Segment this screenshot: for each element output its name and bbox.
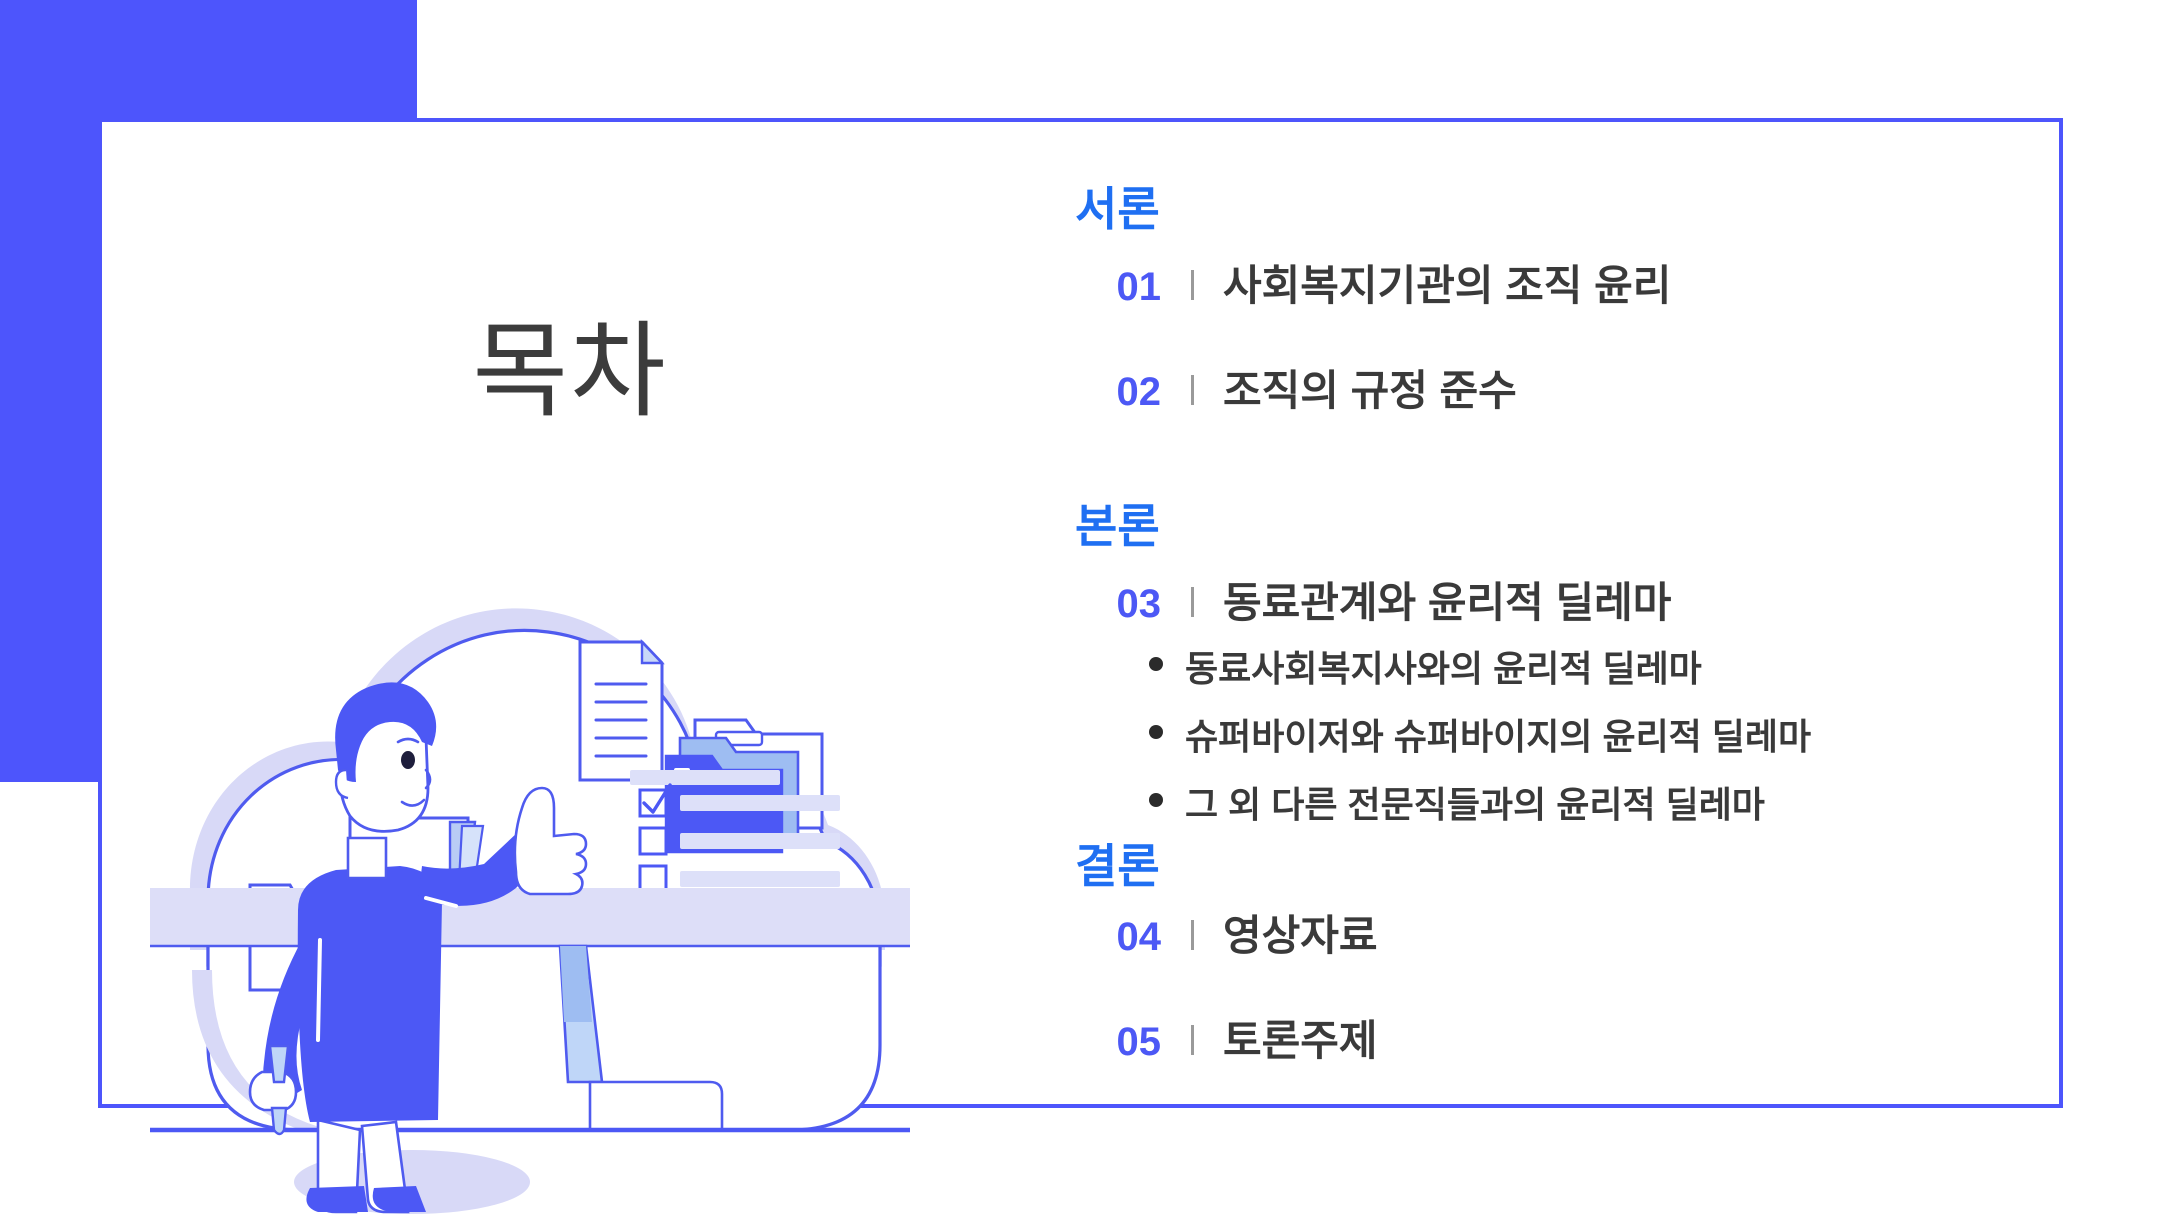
entry-separator-icon — [1161, 375, 1223, 405]
entry-separator-icon — [1161, 270, 1223, 300]
desk-surface — [150, 888, 910, 946]
slide-canvas: 목차 — [0, 0, 2160, 1215]
toc-entry-05[interactable]: 05 토론주제 — [1075, 1007, 2075, 1068]
entry-number: 05 — [1075, 1020, 1161, 1065]
entry-title: 조직의 규정 준수 — [1223, 357, 1517, 418]
bullet-dot-icon — [1149, 725, 1163, 739]
pen-body — [270, 1046, 288, 1082]
entry-number: 04 — [1075, 915, 1161, 960]
section-heading-0: 서론 — [1075, 185, 2075, 234]
neck — [348, 838, 386, 878]
entry-number: 02 — [1075, 370, 1161, 415]
entry-title: 토론주제 — [1223, 1007, 1378, 1068]
toc-entry-01[interactable]: 01 사회복지기관의 조직 윤리 — [1075, 252, 2075, 313]
entry-separator-icon — [1161, 920, 1223, 950]
shoe-left — [306, 1186, 368, 1212]
toc-entry-04[interactable]: 04 영상자료 — [1075, 902, 2075, 963]
checklist-row-0 — [630, 770, 780, 785]
stacked-folders-icon — [666, 720, 822, 852]
entry-number: 03 — [1075, 582, 1161, 627]
section-heading-2: 결론 — [1075, 842, 2075, 891]
section-heading-1: 본론 — [1075, 502, 2075, 551]
list-item-label: 그 외 다른 전문직들과의 윤리적 딜레마 — [1185, 776, 1765, 828]
list-item-label: 슈퍼바이저와 슈퍼바이지의 윤리적 딜레마 — [1185, 708, 1811, 760]
list-item[interactable]: 동료사회복지사와의 윤리적 딜레마 — [1075, 640, 2075, 692]
bullet-dot-icon — [1149, 657, 1163, 671]
table-of-contents: 서론 01 사회복지기관의 조직 윤리 02 조직의 규정 준수 본론 03 동… — [1075, 185, 2075, 1068]
list-item[interactable]: 그 외 다른 전문직들과의 윤리적 딜레마 — [1075, 776, 2075, 828]
toc-entry-02[interactable]: 02 조직의 규정 준수 — [1075, 357, 2075, 418]
cloud-document-management-illustration — [150, 470, 910, 1215]
pen-tip — [272, 1108, 286, 1134]
eye — [401, 751, 415, 769]
entry-number: 01 — [1075, 265, 1161, 310]
page-title: 목차 — [260, 320, 880, 424]
list-item-label: 동료사회복지사와의 윤리적 딜레마 — [1185, 640, 1702, 692]
entry-title: 사회복지기관의 조직 윤리 — [1223, 252, 1671, 313]
entry-title: 동료관계와 윤리적 딜레마 — [1223, 569, 1671, 630]
entry-separator-icon — [1161, 1025, 1223, 1055]
entry-title: 영상자료 — [1223, 902, 1378, 963]
document-icon — [580, 642, 662, 780]
bullet-dot-icon — [1149, 793, 1163, 807]
sweater-highlight — [318, 940, 320, 1040]
toc-entry-03[interactable]: 03 동료관계와 윤리적 딜레마 — [1075, 569, 2075, 630]
sub-item-list: 동료사회복지사와의 윤리적 딜레마 슈퍼바이저와 슈퍼바이지의 윤리적 딜레마 … — [1075, 640, 2075, 828]
entry-separator-icon — [1161, 587, 1223, 617]
list-item[interactable]: 슈퍼바이저와 슈퍼바이지의 윤리적 딜레마 — [1075, 708, 2075, 760]
